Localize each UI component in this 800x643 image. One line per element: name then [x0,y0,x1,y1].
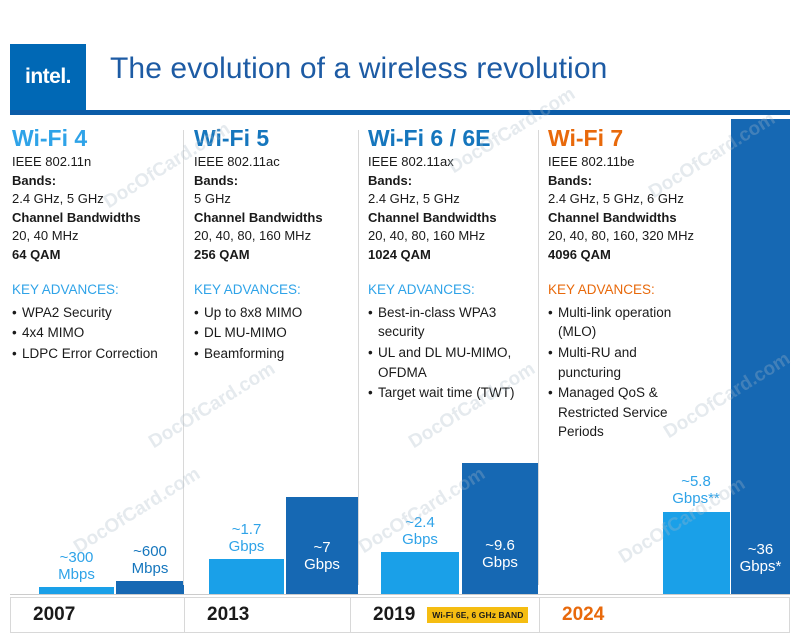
divider-2 [358,130,359,585]
wifi7-key-advances-label: KEY ADVANCES: [548,281,743,300]
year-2013: 2013 [207,604,249,626]
column-wifi4: Wi-Fi 4 IEEE 802.11n Bands: 2.4 GHz, 5 G… [10,120,185,595]
bar-wifi7-dark [731,119,790,595]
bar-wifi6-dark [462,463,538,595]
year-2019: 2019 [373,604,415,626]
footer-cell-2019: 2019 Wi-Fi 6E, 6 GHz BAND [351,598,539,632]
wifi4-bands-label: Bands: [12,172,184,190]
wifi5-key-advances-label: KEY ADVANCES: [194,281,358,300]
bar-label-wifi5-dark: ~7 Gbps [286,539,358,573]
wifi6-bands-label: Bands: [368,172,538,190]
wifi4-bullet-list: WPA2 Security 4x4 MIMO LDPC Error Correc… [12,303,184,364]
footer-cell-2024: 2024 [540,598,789,632]
timeline-footer: 2007 2013 2019 Wi-Fi 6E, 6 GHz BAND 2024 [10,597,790,633]
list-item: Best-in-class WPA3 security [368,303,538,342]
bar-label-wifi6-dark: ~9.6 Gbps [462,537,538,571]
bar-wifi4-dark [116,581,184,595]
wifi5-bands-label: Bands: [194,172,358,190]
list-item: LDPC Error Correction [12,344,184,364]
bar-wifi5-light [209,559,284,595]
wifi6-qam: 1024 QAM [368,246,538,264]
column-wifi5: Wi-Fi 5 IEEE 802.11ac Bands: 5 GHz Chann… [192,120,358,595]
wifi7-title: Wi-Fi 7 [548,126,743,151]
infographic-root: intel. The evolution of a wireless revol… [0,0,800,643]
list-item: Managed QoS & Restricted Service Periods [548,383,698,442]
wifi4-bandwidth-label: Channel Bandwidths [12,209,184,227]
list-item: Up to 8x8 MIMO [194,303,358,323]
header-divider-rule [10,110,790,115]
wifi6-bands-value: 2.4 GHz, 5 GHz [368,190,538,208]
column-wifi7: Wi-Fi 7 IEEE 802.11be Bands: 2.4 GHz, 5 … [546,120,790,595]
list-item: 4x4 MIMO [12,323,184,343]
list-item: Multi-link operation (MLO) [548,303,698,342]
wifi7-bullet-list: Multi-link operation (MLO) Multi-RU and … [548,303,698,442]
wifi7-bands-label: Bands: [548,172,743,190]
list-item: Target wait time (TWT) [368,383,538,403]
wifi7-standard: IEEE 802.11be [548,153,743,171]
bar-label-wifi6-light: ~2.4 Gbps [372,514,468,548]
wifi4-standard: IEEE 802.11n [12,153,184,171]
generation-columns: Wi-Fi 4 IEEE 802.11n Bands: 2.4 GHz, 5 G… [0,120,800,595]
intel-logo: intel. [10,44,86,110]
wifi5-bandwidth-label: Channel Bandwidths [194,209,358,227]
list-item: Multi-RU and puncturing [548,343,698,382]
year-2007: 2007 [33,604,75,626]
wifi7-bandwidth-value: 20, 40, 80, 160, 320 MHz [548,227,743,245]
list-item: UL and DL MU-MIMO, OFDMA [368,343,538,382]
wifi6-title: Wi-Fi 6 / 6E [368,126,538,151]
wifi5-bandwidth-value: 20, 40, 80, 160 MHz [194,227,358,245]
wifi4-bands-value: 2.4 GHz, 5 GHz [12,190,184,208]
wifi5-standard: IEEE 802.11ac [194,153,358,171]
wifi6-bandwidth-label: Channel Bandwidths [368,209,538,227]
wifi6-standard: IEEE 802.11ax [368,153,538,171]
wifi5-title: Wi-Fi 5 [194,126,358,151]
intel-logo-text: intel. [25,65,71,89]
wifi6-bullet-list: Best-in-class WPA3 security UL and DL MU… [368,303,538,403]
footer-cell-2013: 2013 [185,598,350,632]
bar-wifi7-light [663,512,730,595]
wifi7-bandwidth-label: Channel Bandwidths [548,209,743,227]
wifi4-title: Wi-Fi 4 [12,126,184,151]
bar-label-wifi4-dark: ~600 Mbps [110,543,190,577]
wifi5-bullet-list: Up to 8x8 MIMO DL MU-MIMO Beamforming [194,303,358,364]
status-badge-wifi6e: Wi-Fi 6E, 6 GHz BAND [427,607,528,623]
divider-3 [538,130,539,585]
wifi4-bandwidth-value: 20, 40 MHz [12,227,184,245]
bar-label-wifi5-light: ~1.7 Gbps [200,521,293,555]
list-item: WPA2 Security [12,303,184,323]
bar-label-wifi7-dark: ~36 Gbps* [731,541,790,575]
wifi4-key-advances-label: KEY ADVANCES: [12,281,184,300]
wifi5-bands-value: 5 GHz [194,190,358,208]
wifi5-qam: 256 QAM [194,246,358,264]
wifi6-bandwidth-value: 20, 40, 80, 160 MHz [368,227,538,245]
year-2024: 2024 [562,604,604,626]
column-wifi6: Wi-Fi 6 / 6E IEEE 802.11ax Bands: 2.4 GH… [366,120,538,595]
footer-cell-2007: 2007 [11,598,184,632]
page-title: The evolution of a wireless revolution [110,52,607,86]
divider-1 [183,130,184,585]
wifi7-qam: 4096 QAM [548,246,743,264]
page-header: intel. The evolution of a wireless revol… [0,0,800,115]
wifi4-qam: 64 QAM [12,246,184,264]
bar-wifi6-light [381,552,459,595]
wifi6-key-advances-label: KEY ADVANCES: [368,281,538,300]
bar-label-wifi7-light: ~5.8 Gbps** [650,473,742,507]
chart-baseline [10,594,790,595]
wifi7-bands-value: 2.4 GHz, 5 GHz, 6 GHz [548,190,743,208]
list-item: DL MU-MIMO [194,323,358,343]
list-item: Beamforming [194,344,358,364]
